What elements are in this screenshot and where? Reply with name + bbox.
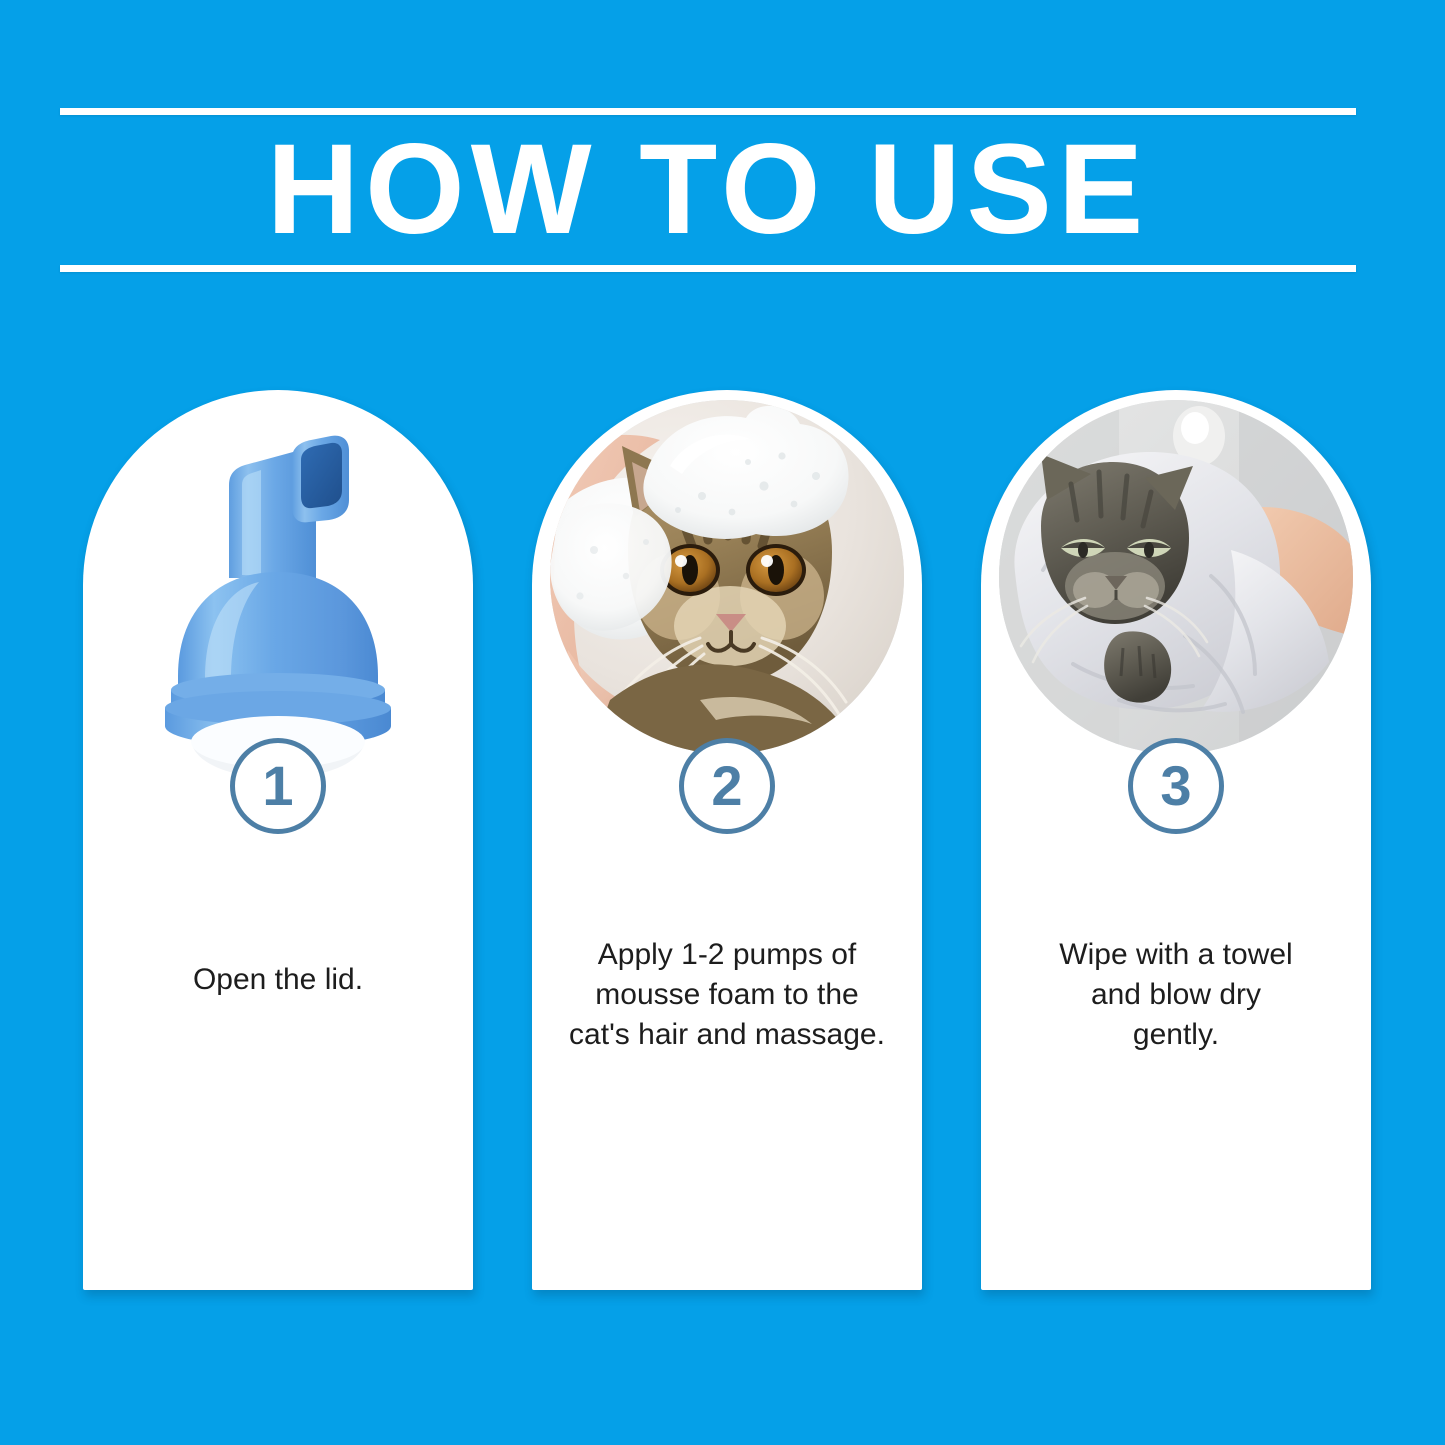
step-card-3: 3 Wipe with a towel and blow dry gently. <box>981 390 1371 1290</box>
title-rule-bottom <box>60 265 1356 272</box>
step-card-1: 1 Open the lid. <box>83 390 473 1290</box>
step-caption: Apply 1-2 pumps of mousse foam to the ca… <box>552 935 902 1055</box>
page-header: HOW TO USE <box>60 108 1356 278</box>
step-number-badge: 3 <box>1128 738 1224 834</box>
step-caption: Wipe with a towel and blow dry gently. <box>1001 935 1351 1055</box>
step-number-badge: 2 <box>679 738 775 834</box>
kitten-foam-photo <box>550 400 904 754</box>
steps-row: 1 Open the lid. <box>0 390 1445 1295</box>
step-number-badge: 1 <box>230 738 326 834</box>
cat-towel-photo <box>999 400 1353 754</box>
page-title: HOW TO USE <box>60 122 1356 258</box>
step-caption: Open the lid. <box>103 960 453 1000</box>
title-rule-top <box>60 108 1356 115</box>
step-card-2: 2 Apply 1-2 pumps of mousse foam to the … <box>532 390 922 1290</box>
